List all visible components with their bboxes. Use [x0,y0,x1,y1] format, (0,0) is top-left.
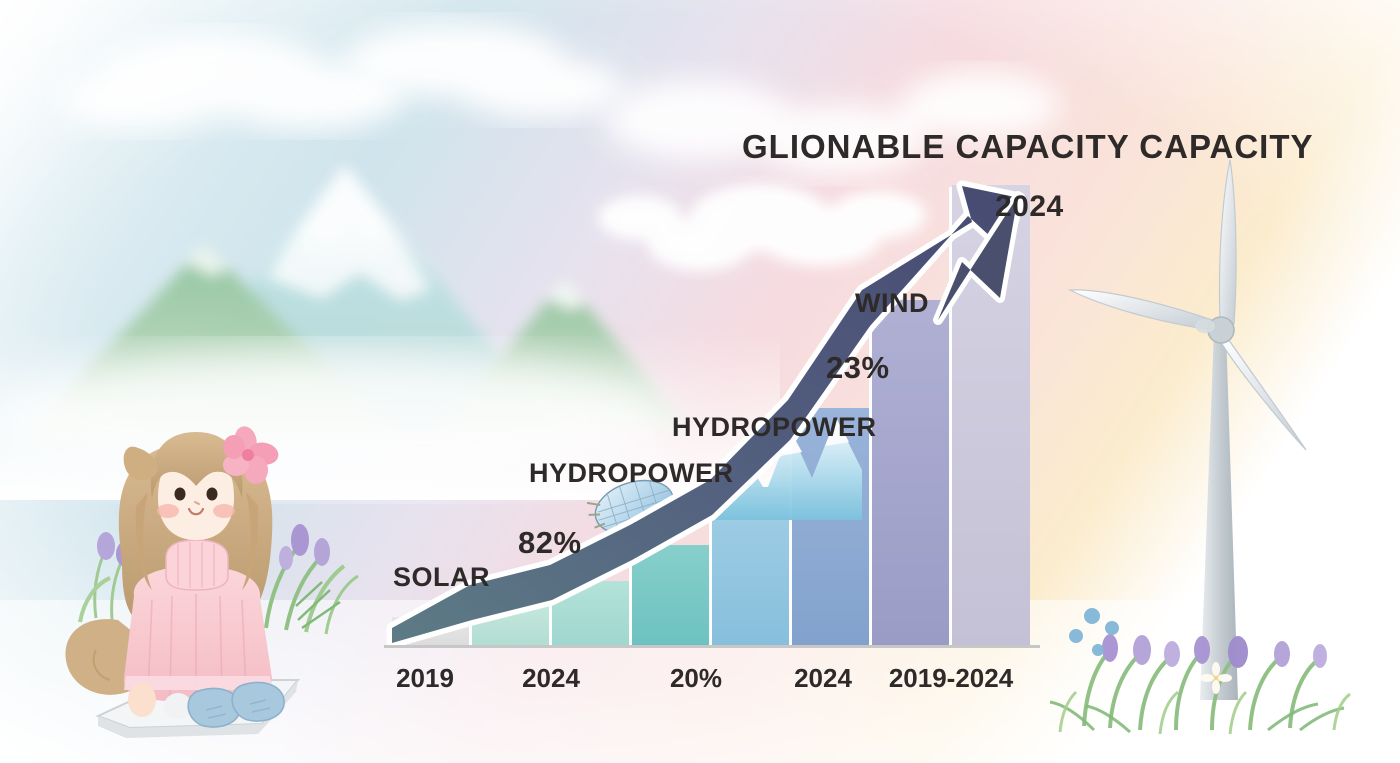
hand-left [128,683,156,717]
lavender-flower-bed [1050,608,1350,734]
foreground-illustrations [0,0,1400,763]
page-title: GLIONABLE CAPACITY CAPACITY [742,128,1314,166]
watercolor-girl-character [65,425,358,738]
label-hydropower-2: HYDROPOWER [672,412,877,443]
page-subtitle: 2024 [995,190,1064,224]
x-tick-5: 2019-2024 [889,663,1013,694]
value-wind: 23% [826,350,890,386]
turbine-blade-right [1222,336,1306,450]
flower-hairclip [223,425,280,484]
x-tick-2: 2024 [522,663,580,694]
blush-right [213,504,235,518]
lavender-plants-right [266,524,358,634]
label-wind: WIND [855,288,929,319]
x-tick-4: 2024 [794,663,852,694]
infographic-canvas: GLIONABLE CAPACITY CAPACITY 2024 SOLAR 8… [0,0,1400,763]
x-tick-1: 2019 [396,663,454,694]
blush-left [157,504,179,518]
turbine-blade-up [1219,160,1236,324]
label-hydropower-1: HYDROPOWER [529,458,734,489]
label-solar: SOLAR [393,562,490,593]
x-tick-3: 20% [670,663,722,694]
eye-left [175,488,186,501]
value-solar: 82% [518,525,582,561]
wind-turbine [1050,160,1350,734]
collar [166,540,228,590]
eye-right [207,488,218,501]
